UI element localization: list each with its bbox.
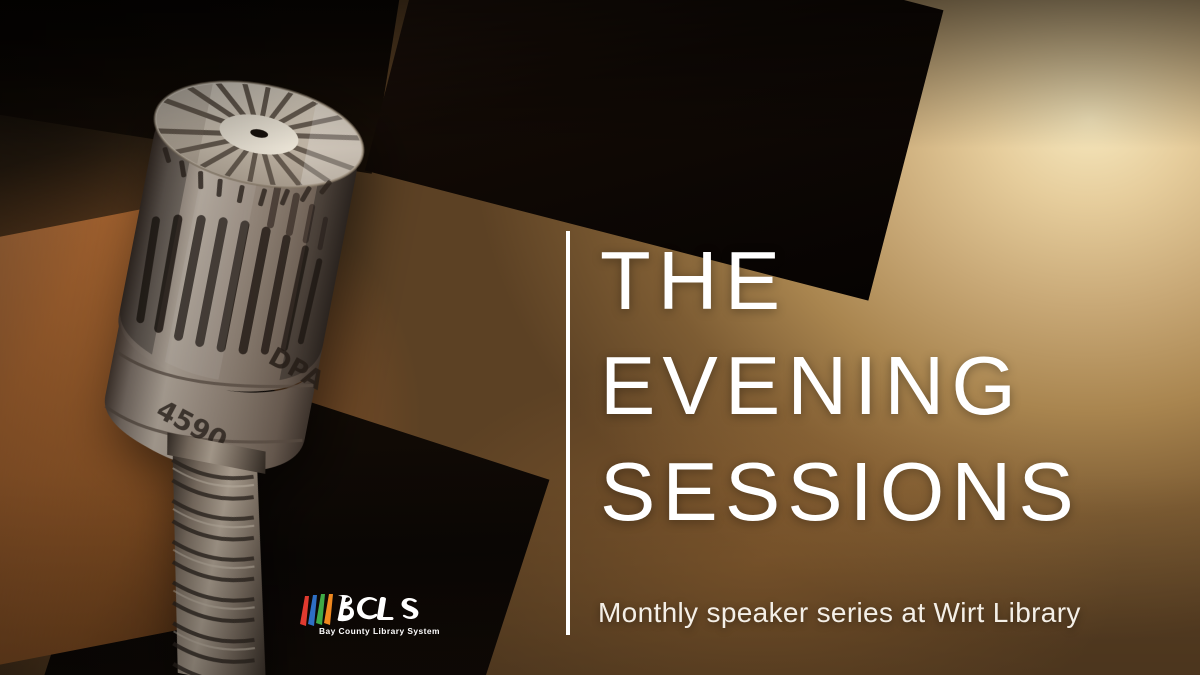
vertical-divider xyxy=(566,231,570,635)
logo-book-bars xyxy=(300,594,333,626)
poster-subtitle: Monthly speaker series at Wirt Library xyxy=(598,597,1198,629)
title-line-2: EVENING xyxy=(600,333,1190,438)
page-title: THE EVENING SESSIONS xyxy=(600,228,1190,544)
logo-wordmark xyxy=(338,595,419,621)
logo-tagline: Bay County Library System xyxy=(319,626,440,636)
poster-canvas: DPA 4590 xyxy=(0,0,1200,675)
title-line-3: SESSIONS xyxy=(600,439,1190,544)
title-line-1: THE xyxy=(600,228,1190,333)
